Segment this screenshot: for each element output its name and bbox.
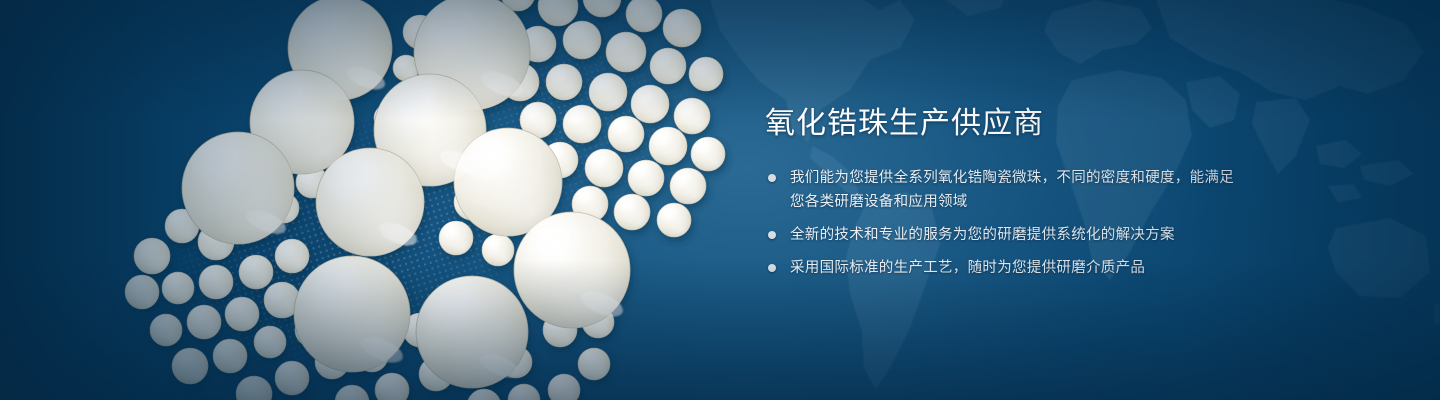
hero-banner: 氧化锆珠生产供应商 我们能为您提供全系列氧化锆陶瓷微珠，不同的密度和硬度，能满足… [0,0,1440,400]
banner-vignette [0,0,1440,400]
